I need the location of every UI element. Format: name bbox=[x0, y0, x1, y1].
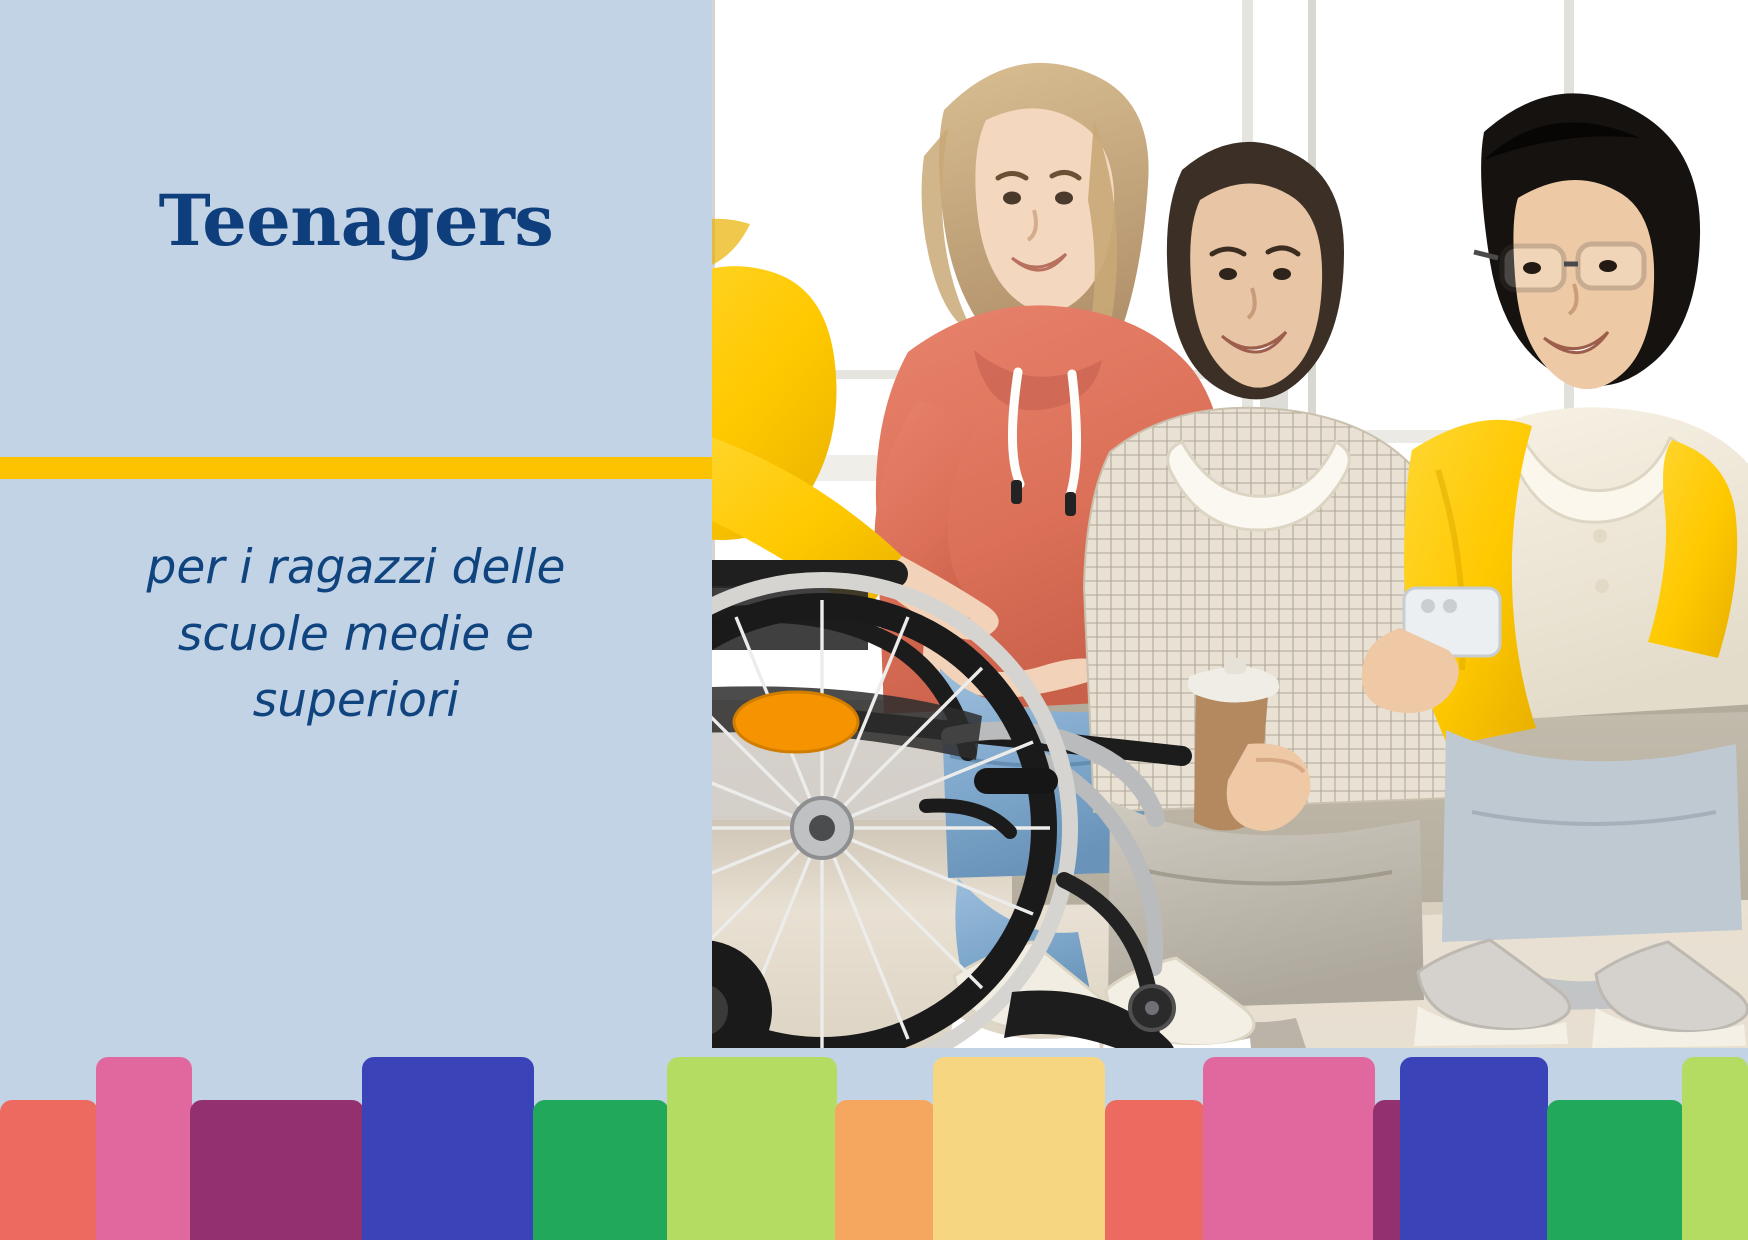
swatch-sand bbox=[933, 1057, 1105, 1240]
swatch-pink bbox=[96, 1057, 192, 1240]
bottom-color-strip bbox=[0, 1040, 1748, 1240]
swatch-blue-2 bbox=[1400, 1057, 1548, 1240]
swatch-blue bbox=[362, 1057, 534, 1240]
subtitle-line-1: per i ragazzi delle bbox=[56, 535, 656, 602]
subtitle-line-3: superiori bbox=[56, 668, 656, 735]
orange-reflector bbox=[734, 692, 858, 752]
light-jeans bbox=[1442, 730, 1742, 942]
swatch-salmon bbox=[0, 1100, 98, 1240]
polo-button bbox=[1593, 529, 1607, 543]
eye bbox=[1523, 262, 1541, 274]
swatch-orange bbox=[835, 1100, 935, 1240]
slide-canvas: Teenagers per i ragazzi delle scuole med… bbox=[0, 0, 1748, 1240]
drawstring-tip bbox=[1065, 492, 1076, 516]
swatch-lightgreen bbox=[667, 1057, 837, 1240]
eye bbox=[1219, 268, 1237, 280]
swatch-magenta bbox=[190, 1100, 364, 1240]
swatch-green bbox=[533, 1100, 669, 1240]
swatch-green-2 bbox=[1547, 1100, 1684, 1240]
swatch-pink-2 bbox=[1203, 1057, 1375, 1240]
photo-illustration bbox=[712, 0, 1748, 1048]
page-title: Teenagers bbox=[0, 186, 712, 256]
eye bbox=[1055, 192, 1073, 205]
photo-teenagers-group bbox=[712, 0, 1748, 1048]
polo-button bbox=[1595, 579, 1609, 593]
yellow-divider-rule bbox=[0, 457, 712, 479]
eye bbox=[1003, 192, 1021, 205]
subtitle-line-2: scuole medie e bbox=[56, 602, 656, 669]
brake-handle bbox=[974, 768, 1058, 794]
eye bbox=[1273, 268, 1291, 280]
swatch-lightgreen-2 bbox=[1682, 1057, 1748, 1240]
page-subtitle: per i ragazzi delle scuole medie e super… bbox=[56, 535, 656, 735]
drawstring-tip bbox=[1011, 480, 1022, 504]
coffee-lid-tab bbox=[1224, 658, 1246, 674]
swatch-salmon-2 bbox=[1105, 1100, 1205, 1240]
eye bbox=[1599, 260, 1617, 272]
